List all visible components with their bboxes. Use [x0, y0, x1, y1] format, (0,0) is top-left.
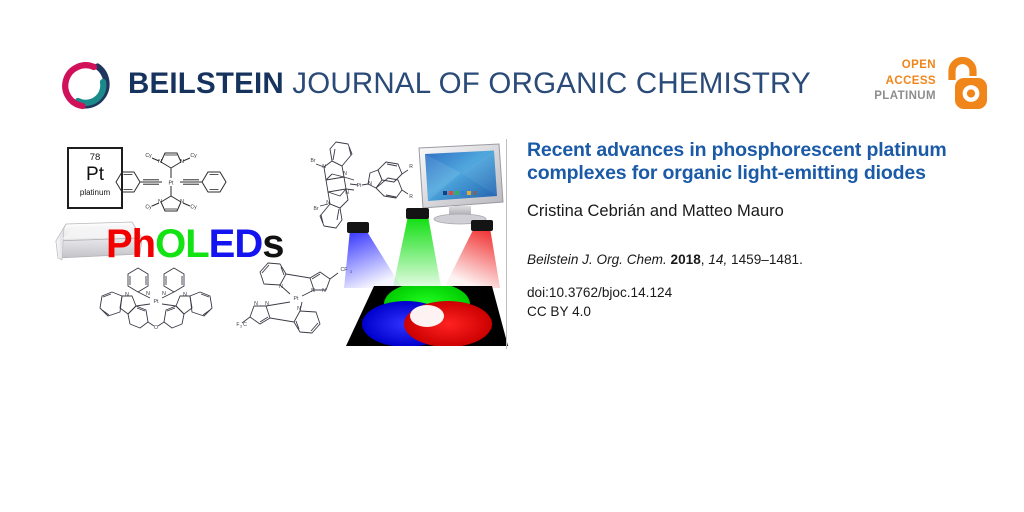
svg-text:Br: Br: [311, 158, 316, 164]
open-access-line-access: ACCESS: [874, 74, 936, 90]
svg-text:N: N: [180, 159, 184, 165]
svg-text:Pt: Pt: [357, 183, 362, 189]
svg-text:Cy: Cy: [145, 153, 152, 159]
pt-nhc-bisacetylide-structure: Pt NN NN CyCy CyCy: [110, 150, 232, 214]
journal-wordmark: BEILSTEIN JOURNAL OF ORGANIC CHEMISTRY: [128, 69, 811, 99]
citation-volume: 14,: [708, 252, 727, 267]
article-meta-panel: Recent advances in phosphorescent platin…: [506, 139, 976, 349]
svg-text:N: N: [158, 199, 162, 205]
journal-wordmark-bold: BEILSTEIN: [128, 67, 284, 100]
pholeds-part-ph: Ph: [106, 222, 155, 266]
svg-text:N: N: [279, 284, 283, 290]
article-title[interactable]: Recent advances in phosphorescent platin…: [527, 139, 957, 184]
article-license[interactable]: CC BY 4.0: [527, 302, 976, 321]
citation-pages: 1459–1481.: [731, 252, 803, 267]
citation-year: 2018: [671, 252, 701, 267]
open-access-line-platinum: PLATINUM: [874, 89, 936, 105]
svg-text:N: N: [183, 292, 187, 298]
svg-text:N: N: [254, 301, 258, 307]
article-doi-block: doi:10.3762/bjoc.14.124 CC BY 4.0: [527, 268, 976, 321]
open-access-badge[interactable]: OPEN ACCESS PLATINUM: [876, 56, 988, 112]
svg-text:Pt: Pt: [153, 299, 159, 305]
svg-text:N: N: [180, 199, 184, 205]
svg-text:Pt: Pt: [294, 296, 299, 302]
citation-journal: Beilstein J. Org. Chem.: [527, 252, 667, 267]
pt-pyridyl-carbazole-oxygen-structure: Pt NN NN O: [78, 266, 234, 346]
open-padlock-icon: [942, 56, 988, 110]
svg-text:N: N: [265, 301, 269, 307]
pholeds-part-ol: OL: [155, 222, 209, 266]
svg-text:N: N: [297, 306, 301, 312]
svg-text:3: 3: [240, 325, 242, 329]
svg-text:Br: Br: [314, 206, 319, 212]
beilstein-swirl-logo[interactable]: [56, 56, 114, 114]
svg-text:Pt: Pt: [169, 180, 174, 186]
svg-text:N: N: [368, 181, 372, 187]
svg-text:C: C: [243, 322, 247, 328]
svg-text:N: N: [343, 171, 347, 177]
svg-text:Cy: Cy: [190, 205, 197, 211]
open-access-line-open: OPEN: [874, 58, 936, 74]
beilstein-swirl-logo-svg: [56, 56, 114, 114]
svg-text:N: N: [311, 288, 315, 294]
svg-text:N: N: [146, 291, 150, 297]
svg-text:Cy: Cy: [190, 153, 197, 159]
svg-text:N: N: [322, 288, 326, 294]
svg-text:Cy: Cy: [145, 205, 152, 211]
svg-text:N: N: [322, 164, 326, 170]
open-padlock-icon-svg: [942, 56, 988, 110]
article-doi[interactable]: doi:10.3762/bjoc.14.124: [527, 285, 672, 300]
rgb-spotlight-color-mixing: [340, 206, 508, 354]
svg-text:N: N: [158, 159, 162, 165]
svg-text:N: N: [345, 190, 349, 196]
svg-text:N: N: [326, 200, 330, 206]
article-citation: Beilstein J. Org. Chem. 2018, 14, 1459–1…: [527, 221, 976, 268]
journal-wordmark-light: JOURNAL OF ORGANIC CHEMISTRY: [284, 67, 811, 100]
svg-text:N: N: [125, 292, 129, 298]
article-authors: Cristina Cebrián and Matteo Mauro: [527, 184, 976, 221]
masthead: BEILSTEIN JOURNAL OF ORGANIC CHEMISTRY O…: [0, 0, 1024, 140]
open-access-label: OPEN ACCESS PLATINUM: [874, 58, 936, 105]
graphical-abstract: 78 Pt platinum: [44, 138, 504, 353]
svg-text:N: N: [162, 291, 166, 297]
svg-text:O: O: [154, 325, 158, 331]
